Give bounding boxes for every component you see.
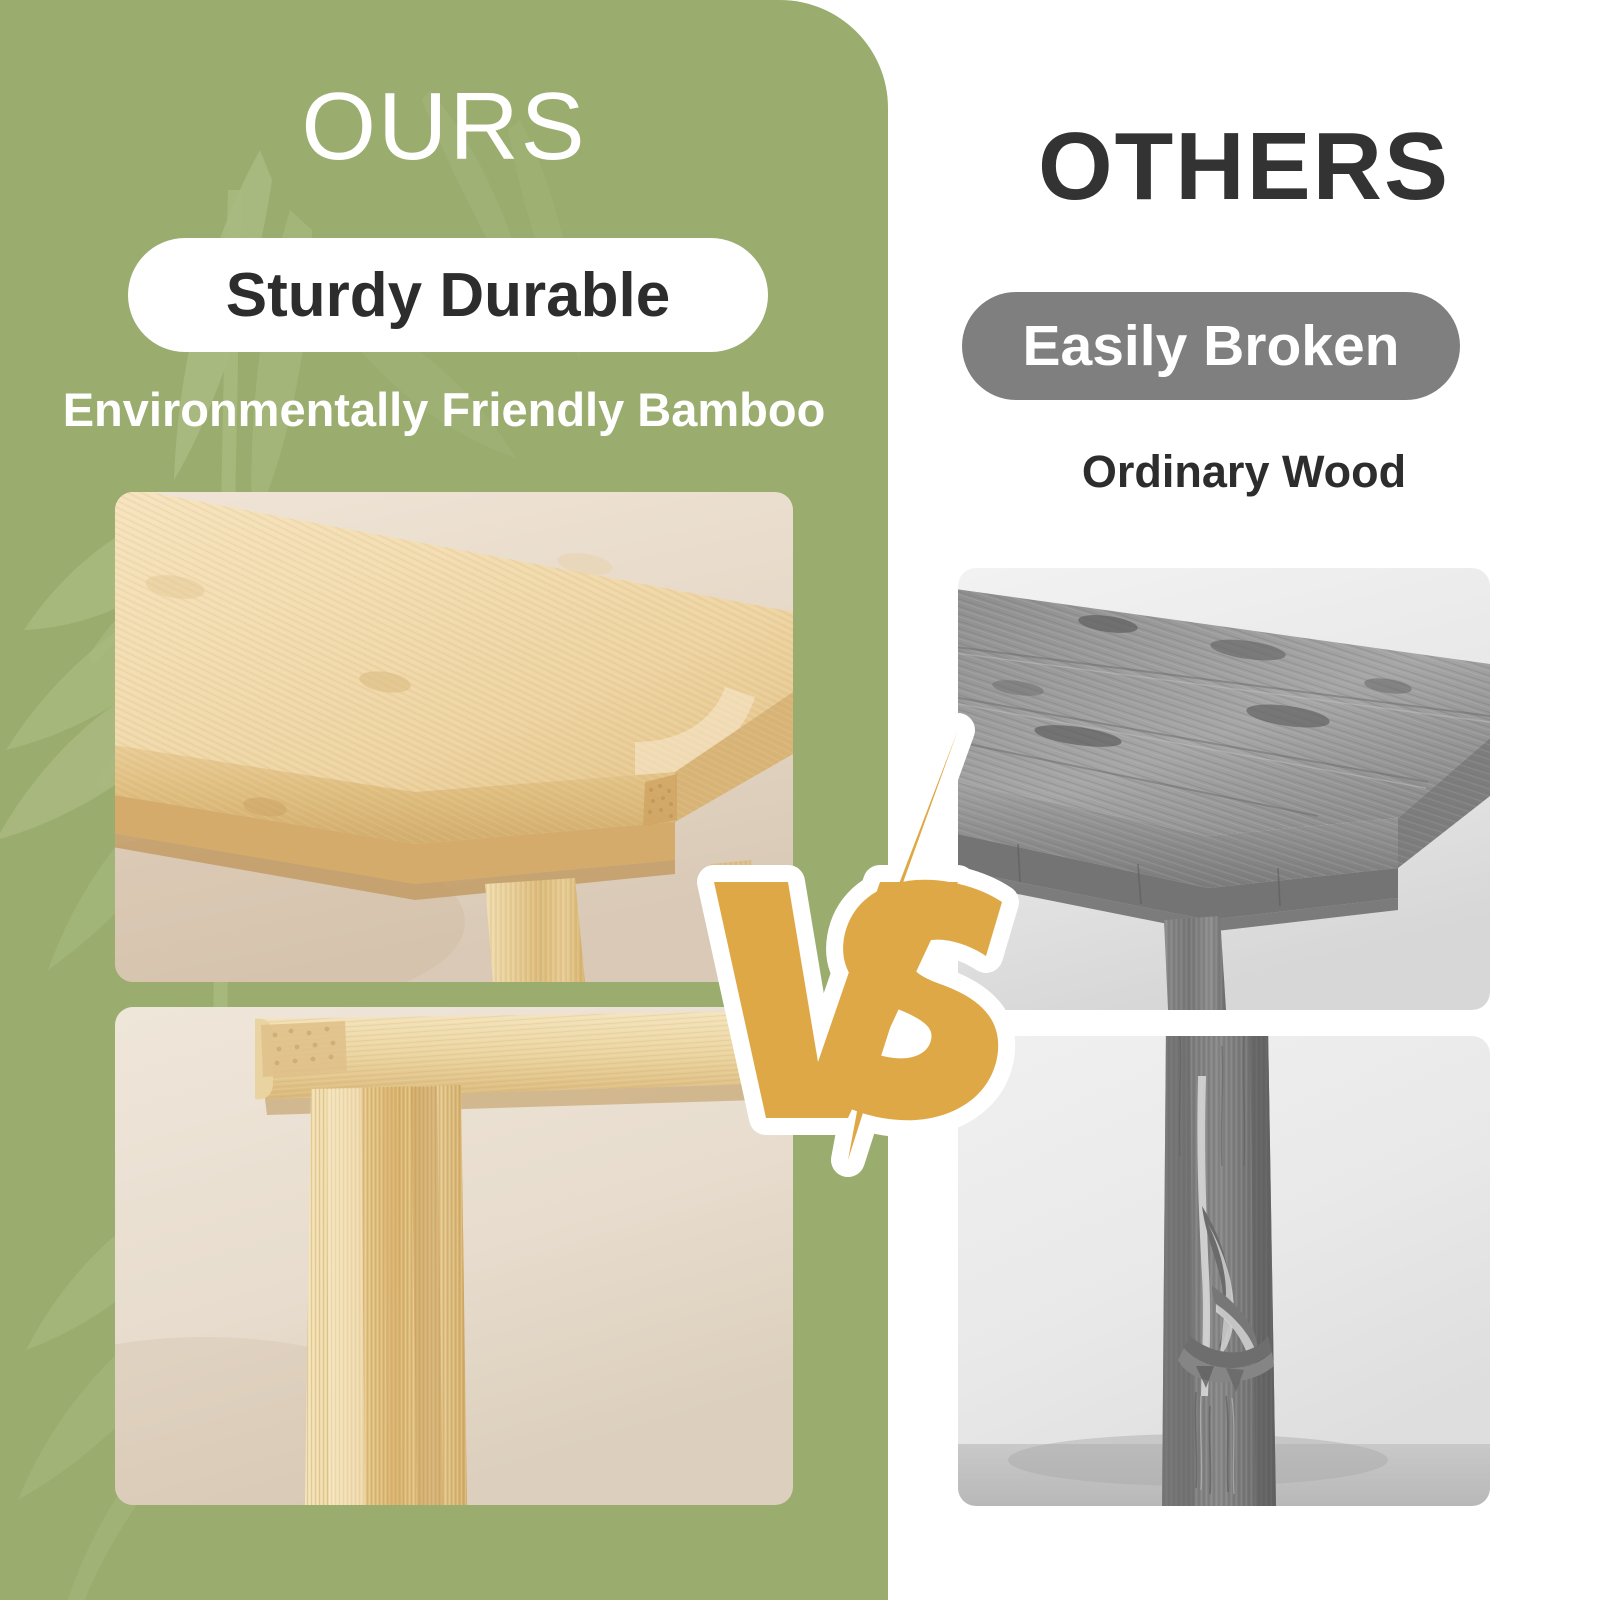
ours-subtitle: Environmentally Friendly Bamboo: [0, 382, 888, 437]
others-badge: Easily Broken: [962, 292, 1460, 400]
others-title: OTHERS: [888, 112, 1600, 222]
others-subtitle: Ordinary Wood: [888, 446, 1600, 498]
vs-badge: [672, 690, 1052, 1290]
ours-title: OURS: [0, 72, 888, 182]
comparison-infographic: OURS Sturdy Durable Environmentally Frie…: [0, 0, 1600, 1600]
ours-badge: Sturdy Durable: [128, 238, 768, 352]
